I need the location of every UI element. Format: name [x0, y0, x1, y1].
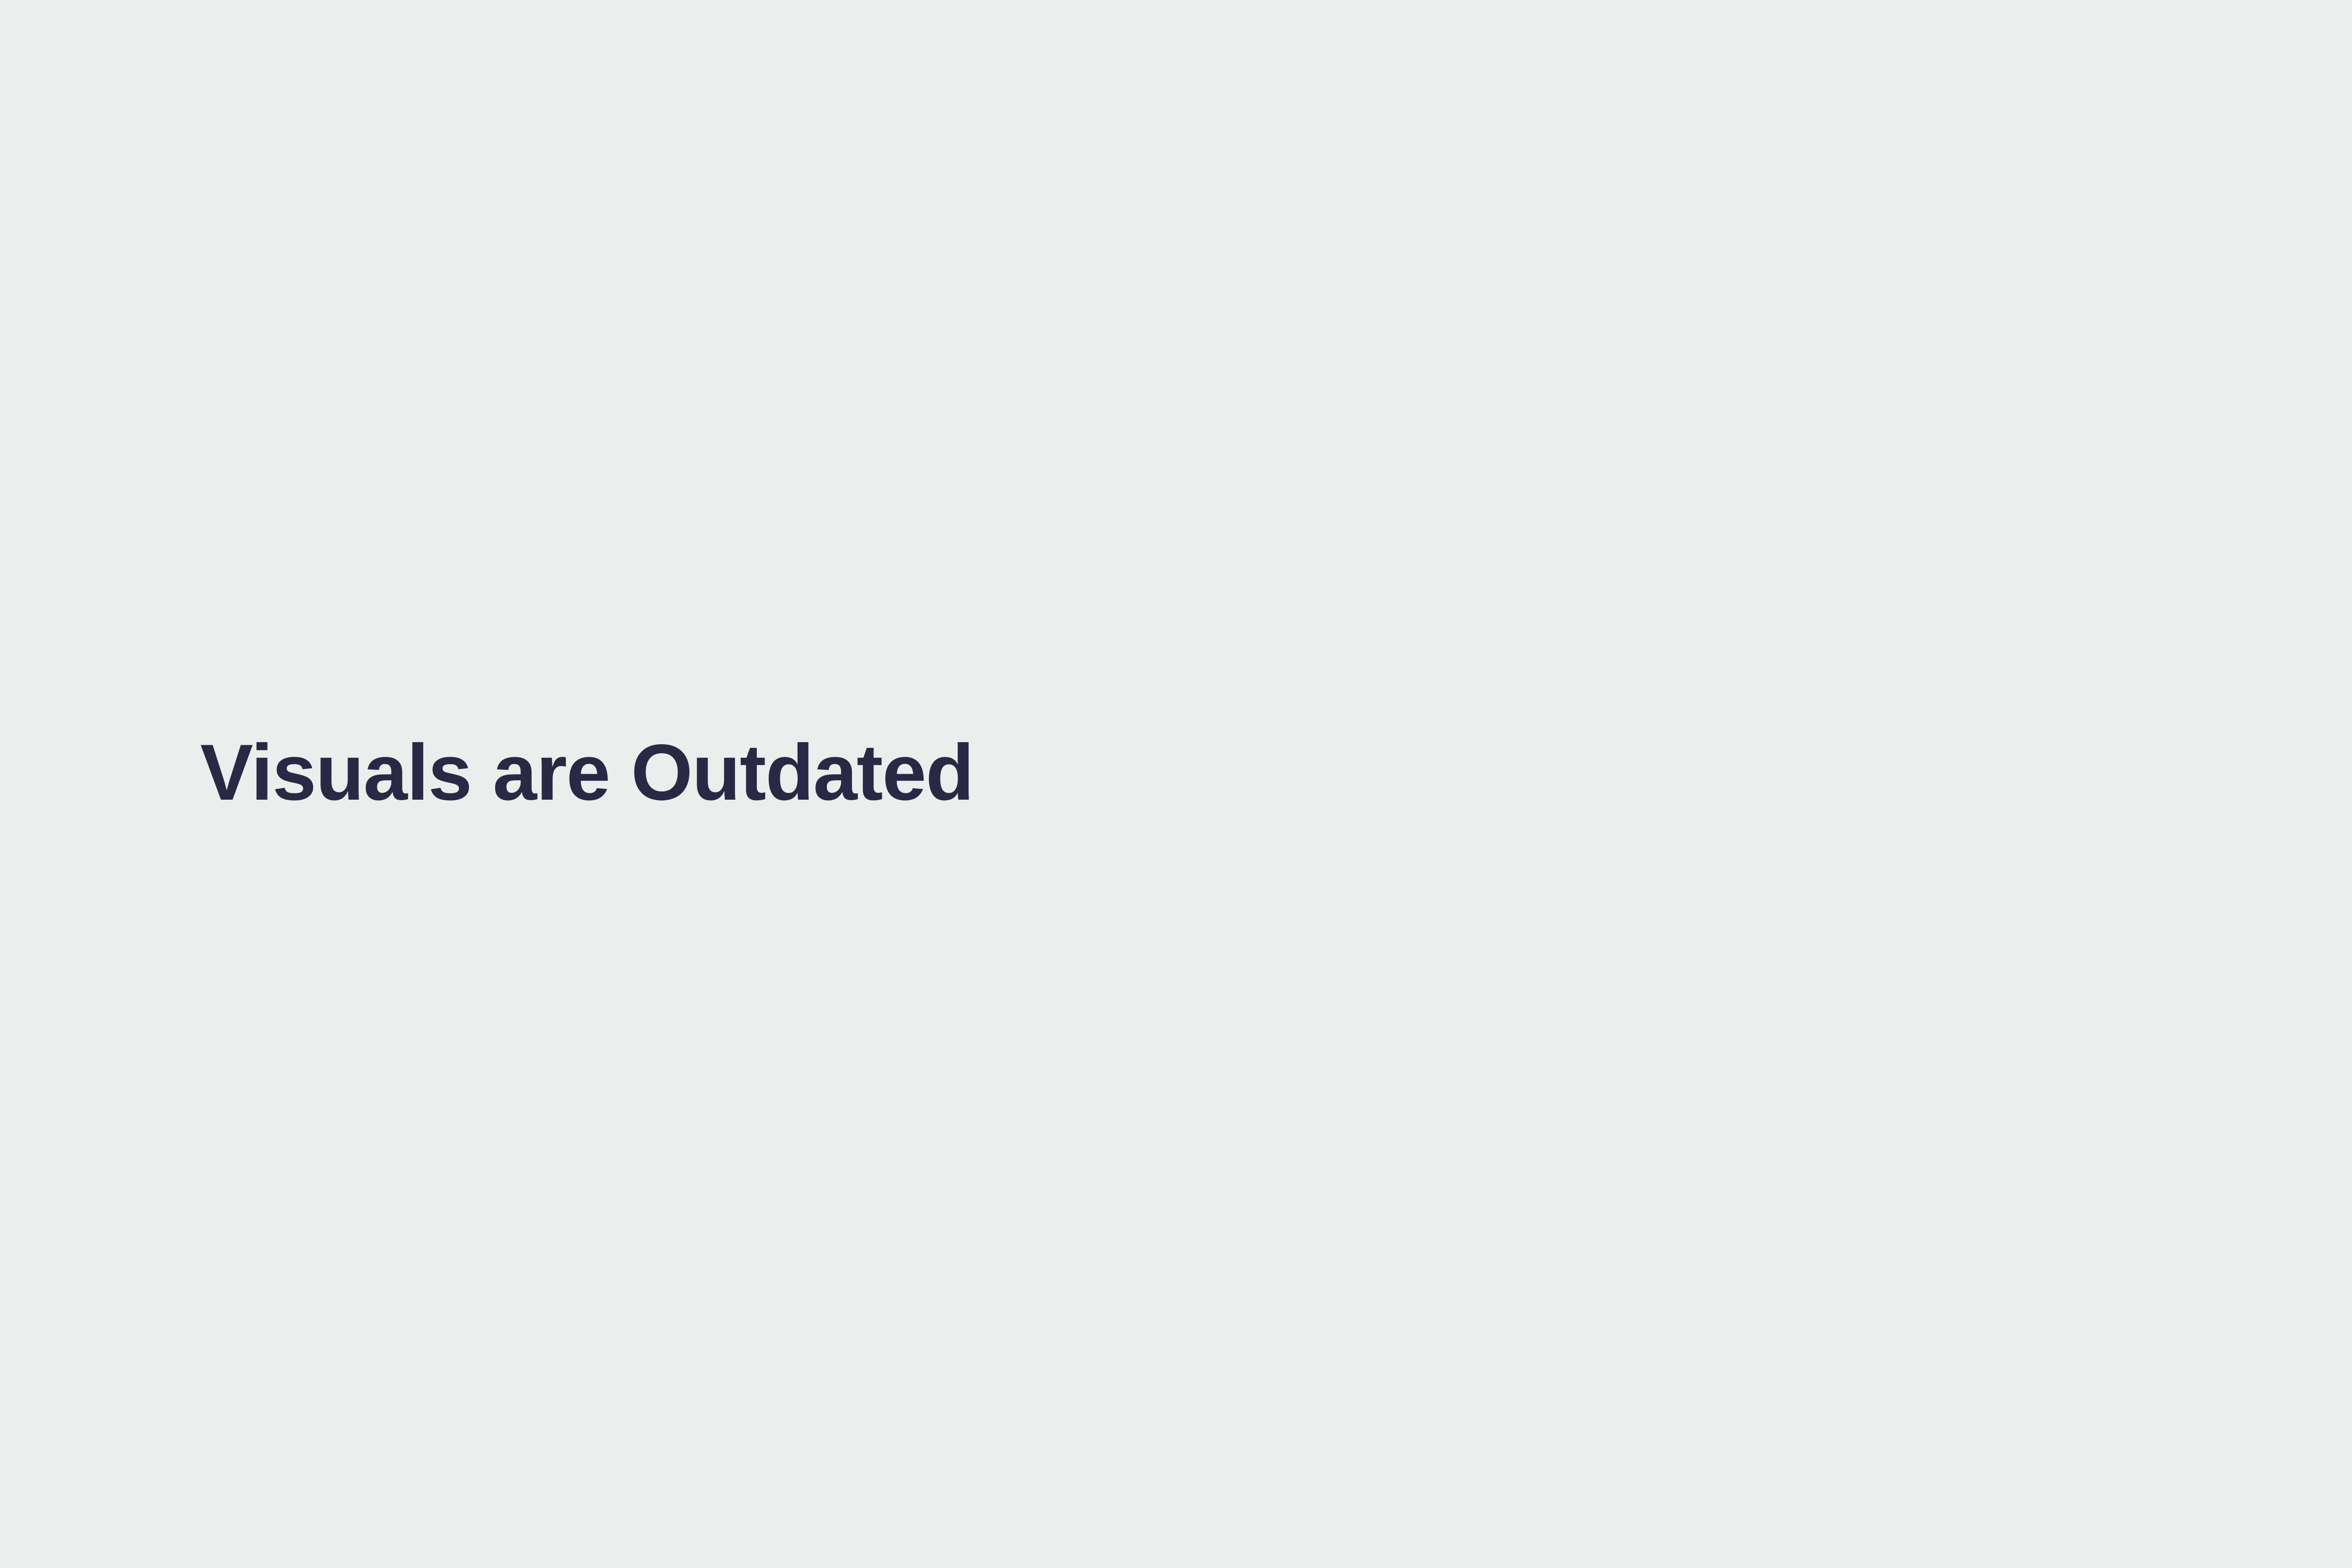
- headline-block: Visuals are Outdated: [200, 733, 2082, 812]
- slide-headline: Visuals are Outdated: [200, 733, 2082, 812]
- slide-canvas: Visuals are Outdated: [0, 0, 2352, 1568]
